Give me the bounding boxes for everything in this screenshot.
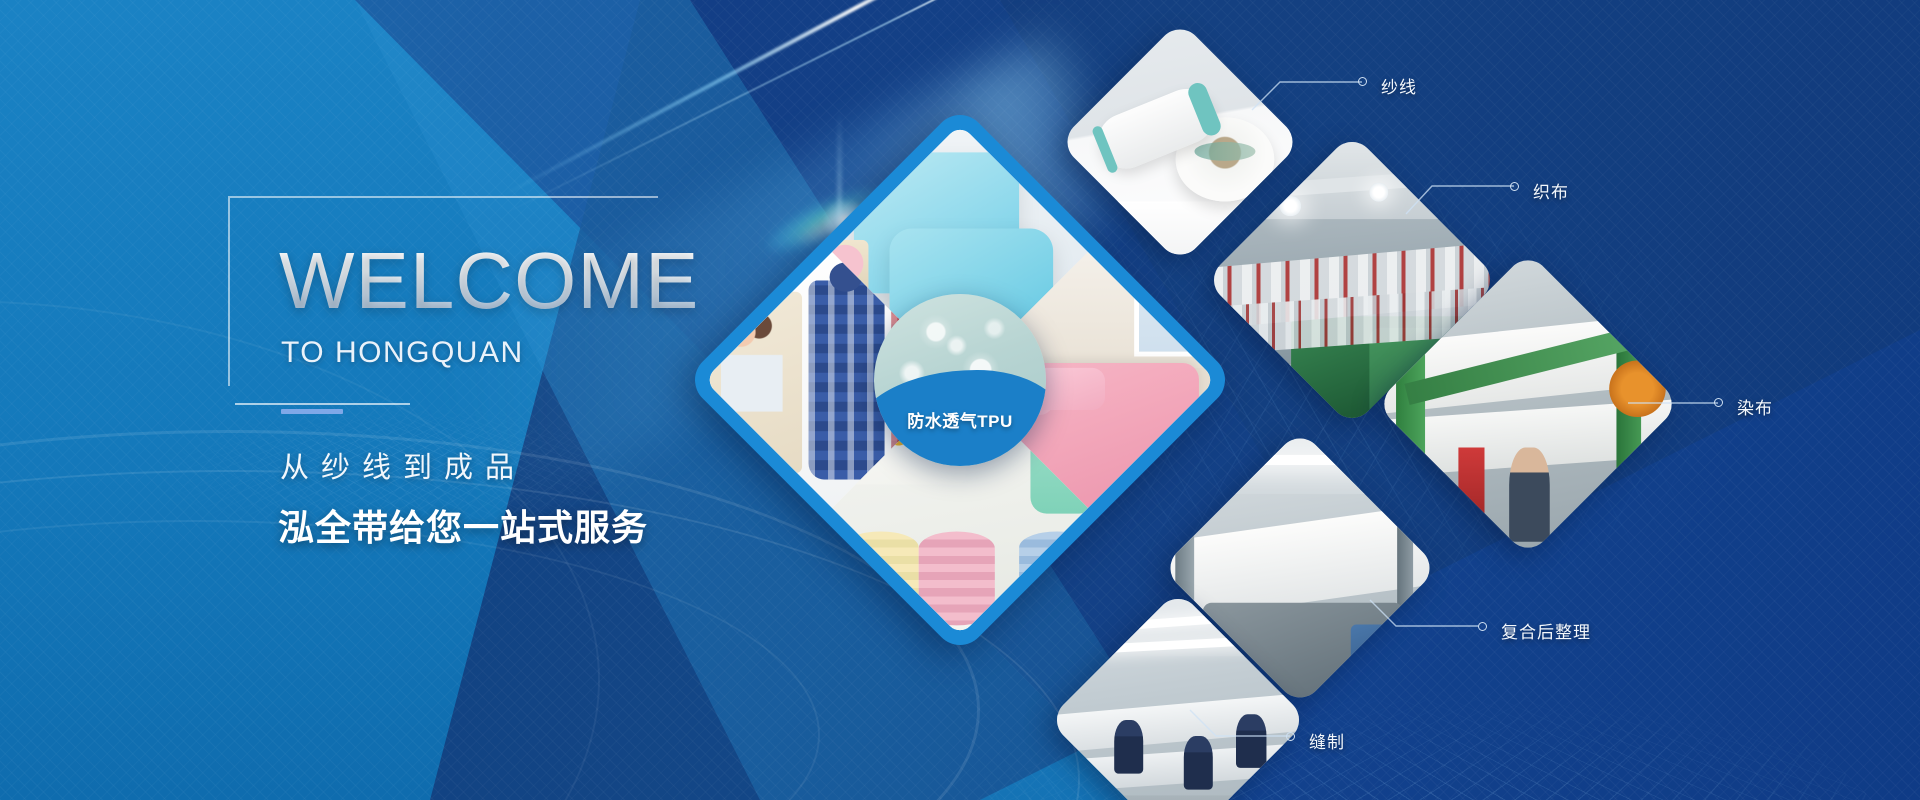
process-label-lamination: 复合后整理 [1501,618,1591,643]
page-subtitle: TO HONGQUAN [281,336,524,370]
page-title: WELCOME [279,242,699,320]
banner-root: WELCOME TO HONGQUAN 从纱线到成品 泓全带给您一站式服务 [0,0,1920,800]
process-label-sewing: 缝制 [1309,728,1345,753]
bottom-rule [235,403,410,405]
badge-label: 防水透气TPU [874,407,1046,432]
process-label-weaving: 织布 [1533,178,1569,203]
leader-dot-dyeing [1714,398,1723,407]
leader-dot-sewing [1286,732,1295,741]
leader-dot-yarn [1358,77,1367,86]
leader-dot-weaving [1510,182,1519,191]
tpu-badge[interactable]: 防水透气TPU [874,294,1046,466]
leader-dot-lamination [1478,622,1487,631]
process-label-dyeing: 染布 [1737,394,1773,419]
process-label-yarn: 纱线 [1381,73,1417,98]
accent-dash [281,409,343,414]
tagline-cn: 从纱线到成品 [280,444,526,486]
headline-cn: 泓全带给您一站式服务 [278,499,648,551]
